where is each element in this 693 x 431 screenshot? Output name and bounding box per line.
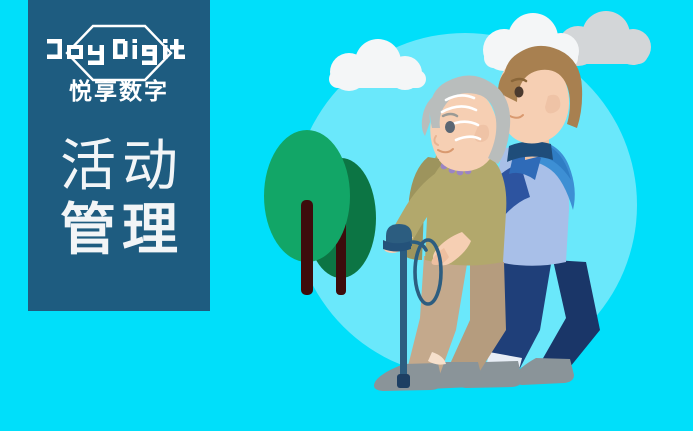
page-title-line-1: 活动 bbox=[54, 134, 184, 198]
cane-shaft bbox=[400, 248, 407, 382]
activity-management-banner: 悦享数字 活动 管理 bbox=[0, 0, 693, 431]
joydigit-wordmark bbox=[45, 38, 193, 68]
page-title-line-2: 管理 bbox=[54, 198, 184, 262]
title-panel: 悦享数字 活动 管理 bbox=[28, 0, 210, 311]
brand-logo: 悦享数字 bbox=[39, 22, 199, 120]
eye-woman bbox=[445, 121, 455, 133]
eye-man bbox=[515, 87, 524, 98]
page-title: 活动 管理 bbox=[28, 134, 210, 262]
cane-tip bbox=[397, 374, 410, 388]
brand-chinese-name: 悦享数字 bbox=[69, 80, 169, 103]
